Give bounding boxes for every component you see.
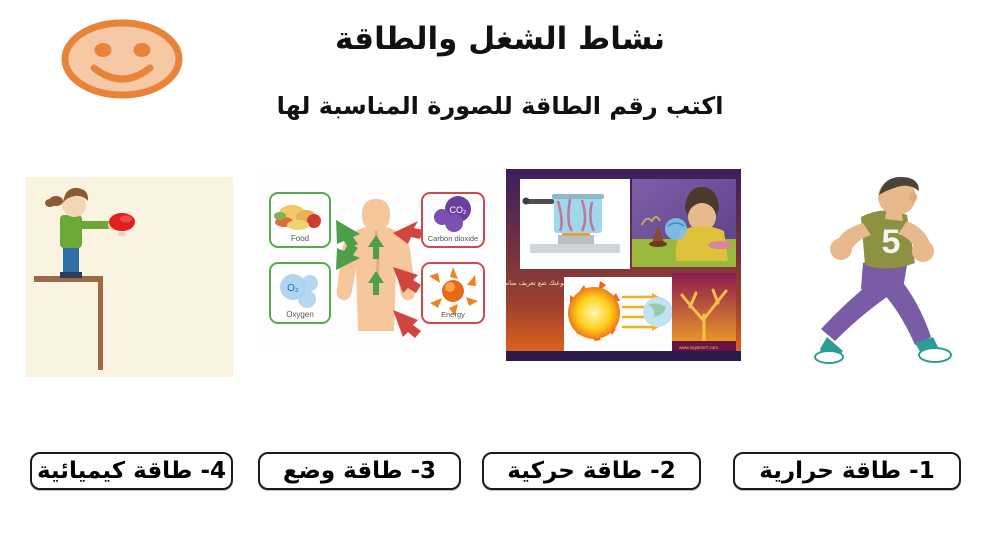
answer-option-thermal[interactable]: 1- طاقة حرارية (733, 452, 961, 490)
page-title: نشاط الشغل والطاقة (0, 22, 1000, 58)
label-food: Food (291, 234, 309, 243)
answer-option-chemical[interactable]: 4- طاقة كيميائية (30, 452, 233, 490)
label-carbon-dioxide: Carbon dioxide (428, 234, 478, 243)
answer-option-potential[interactable]: 3- طاقة وضع (258, 452, 461, 490)
picture-girl-dropping-ball[interactable] (22, 173, 237, 381)
worksheet-page: نشاط الشغل والطاقة اكتب رقم الطاقة للصور… (0, 0, 1000, 548)
label-oxygen: Oxygen (286, 310, 314, 319)
answer-options-row: 4- طاقة كيميائية 3- طاقة وضع 2- طاقة حرك… (0, 452, 1000, 500)
page-subtitle: اكتب رقم الطاقة للصورة المناسبة لها (0, 92, 1000, 121)
picture-row: Food O₂ Oxygen CO₂ Carbon dioxide (0, 165, 1000, 390)
picture-heat-energy-collage[interactable]: بالتعاون مع مجموعتك ضع تعريف مناسب لكل ط… (506, 169, 741, 361)
label-energy: Energy (441, 310, 465, 319)
label-oxygen-molecule: O₂ (287, 283, 299, 294)
label-co2-molecule: CO₂ (450, 205, 468, 215)
svg-text:www.ingstore7.com: www.ingstore7.com (679, 345, 718, 350)
shirt-number: 5 (882, 223, 901, 261)
answer-option-kinetic[interactable]: 2- طاقة حركية (482, 452, 701, 490)
picture-metabolism-diagram[interactable]: Food O₂ Oxygen CO₂ Carbon dioxide (262, 175, 490, 350)
picture-running-man[interactable]: 5 (757, 171, 989, 385)
